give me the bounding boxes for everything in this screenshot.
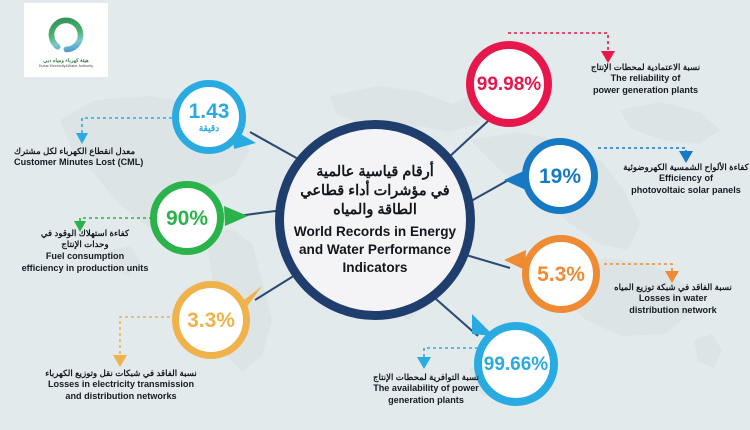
caption-availability-en-1: The availability of power bbox=[330, 383, 522, 395]
hub-title-ar-3: الطاقة والمياه bbox=[333, 201, 417, 220]
caption-water-ar-1: نسبة الفاقد في شبكة توزيع المياه bbox=[578, 282, 750, 293]
caption-reliability-en-2: power generation plants bbox=[548, 85, 743, 97]
caption-reliability-ar-1: نسبة الاعتمادية لمحطات الإنتاج bbox=[548, 62, 743, 73]
bubble-pv-efficiency-value: 19% bbox=[539, 166, 581, 187]
caption-water-en-1: Losses in water bbox=[578, 293, 750, 305]
bubble-pv-efficiency[interactable]: 19% bbox=[522, 138, 598, 214]
caption-fuel-en-2: efficiency in production units bbox=[14, 263, 156, 275]
hub-title-en-3: Indicators bbox=[343, 259, 408, 277]
central-title-hub: أرقام قياسية عالمية في مؤشرات أداء قطاعي… bbox=[275, 120, 475, 320]
infographic-canvas: هيئة كهرباء ومياه دبي Dubai Electricity&… bbox=[0, 0, 750, 430]
logo-name-en: Dubai Electricity&Water Authority bbox=[39, 64, 93, 68]
caption-cml: معدل انقطاع الكهرباء لكل مشترك Customer … bbox=[14, 146, 199, 169]
caption-fuel-ar-2: وحدات الإنتاج bbox=[14, 239, 156, 250]
hub-title-en-2: and Water Performance bbox=[299, 241, 451, 259]
caption-fuel-efficiency: كفاءة استهلاك الوقود في وحدات الإنتاج Fu… bbox=[14, 228, 156, 274]
bubble-cml-value: 1.43 bbox=[189, 101, 230, 122]
caption-fuel-ar-1: كفاءة استهلاك الوقود في bbox=[14, 228, 156, 239]
caption-cml-ar-1: معدل انقطاع الكهرباء لكل مشترك bbox=[14, 146, 199, 157]
caption-water-en-2: distribution network bbox=[578, 305, 750, 317]
caption-elec-en-1: Losses in electricity transmission bbox=[10, 379, 232, 391]
caption-electricity-losses: نسبة الفاقد في شبكات نقل وتوزيع الكهرباء… bbox=[10, 368, 232, 403]
hub-title-en-1: World Records in Energy bbox=[294, 223, 456, 241]
bubble-reliability-value: 99.98% bbox=[477, 75, 541, 94]
caption-fuel-en-1: Fuel consumption bbox=[14, 251, 156, 263]
dewa-ring-icon bbox=[44, 12, 88, 56]
caption-cml-en-1: Customer Minutes Lost (CML) bbox=[14, 157, 199, 169]
caption-reliability: نسبة الاعتمادية لمحطات الإنتاج The relia… bbox=[548, 62, 743, 97]
hub-title-ar-2: في مؤشرات أداء قطاعي bbox=[300, 182, 450, 201]
caption-pv-ar-1: كفاءة الألواح الشمسية الكهروضوئية bbox=[590, 162, 750, 173]
caption-elec-en-2: and distribution networks bbox=[10, 391, 232, 403]
bubble-cml[interactable]: 1.43 دقيقة bbox=[172, 80, 246, 154]
hub-title-ar-1: أرقام قياسية عالمية bbox=[316, 163, 433, 182]
logo-name-ar: هيئة كهرباء ومياه دبي bbox=[43, 58, 88, 64]
bubble-cml-unit: دقيقة bbox=[199, 124, 219, 133]
caption-pv-efficiency: كفاءة الألواح الشمسية الكهروضوئية Effici… bbox=[590, 162, 750, 197]
caption-pv-en-1: Efficiency of bbox=[590, 173, 750, 185]
caption-availability: نسبة التوافرية لمحطات الإنتاج The availa… bbox=[330, 372, 522, 407]
bubble-nub-fuel bbox=[222, 202, 252, 232]
caption-elec-ar-1: نسبة الفاقد في شبكات نقل وتوزيع الكهرباء bbox=[10, 368, 232, 379]
bubble-electricity-losses[interactable]: 3.3% bbox=[172, 281, 250, 359]
bubble-fuel-efficiency-value: 90% bbox=[166, 208, 208, 229]
bubble-reliability[interactable]: 99.98% bbox=[466, 41, 552, 127]
caption-water-losses: نسبة الفاقد في شبكة توزيع المياه Losses … bbox=[578, 282, 750, 317]
dewa-logo-card: هيئة كهرباء ومياه دبي Dubai Electricity&… bbox=[24, 3, 108, 77]
bubble-fuel-efficiency[interactable]: 90% bbox=[150, 181, 224, 255]
bubble-availability-value: 99.66% bbox=[484, 355, 548, 374]
caption-pv-en-2: photovoltaic solar panels bbox=[590, 185, 750, 197]
bubble-electricity-losses-value: 3.3% bbox=[187, 310, 235, 331]
caption-availability-ar-1: نسبة التوافرية لمحطات الإنتاج bbox=[330, 372, 522, 383]
caption-reliability-en-1: The reliability of bbox=[548, 73, 743, 85]
caption-availability-en-2: generation plants bbox=[330, 395, 522, 407]
